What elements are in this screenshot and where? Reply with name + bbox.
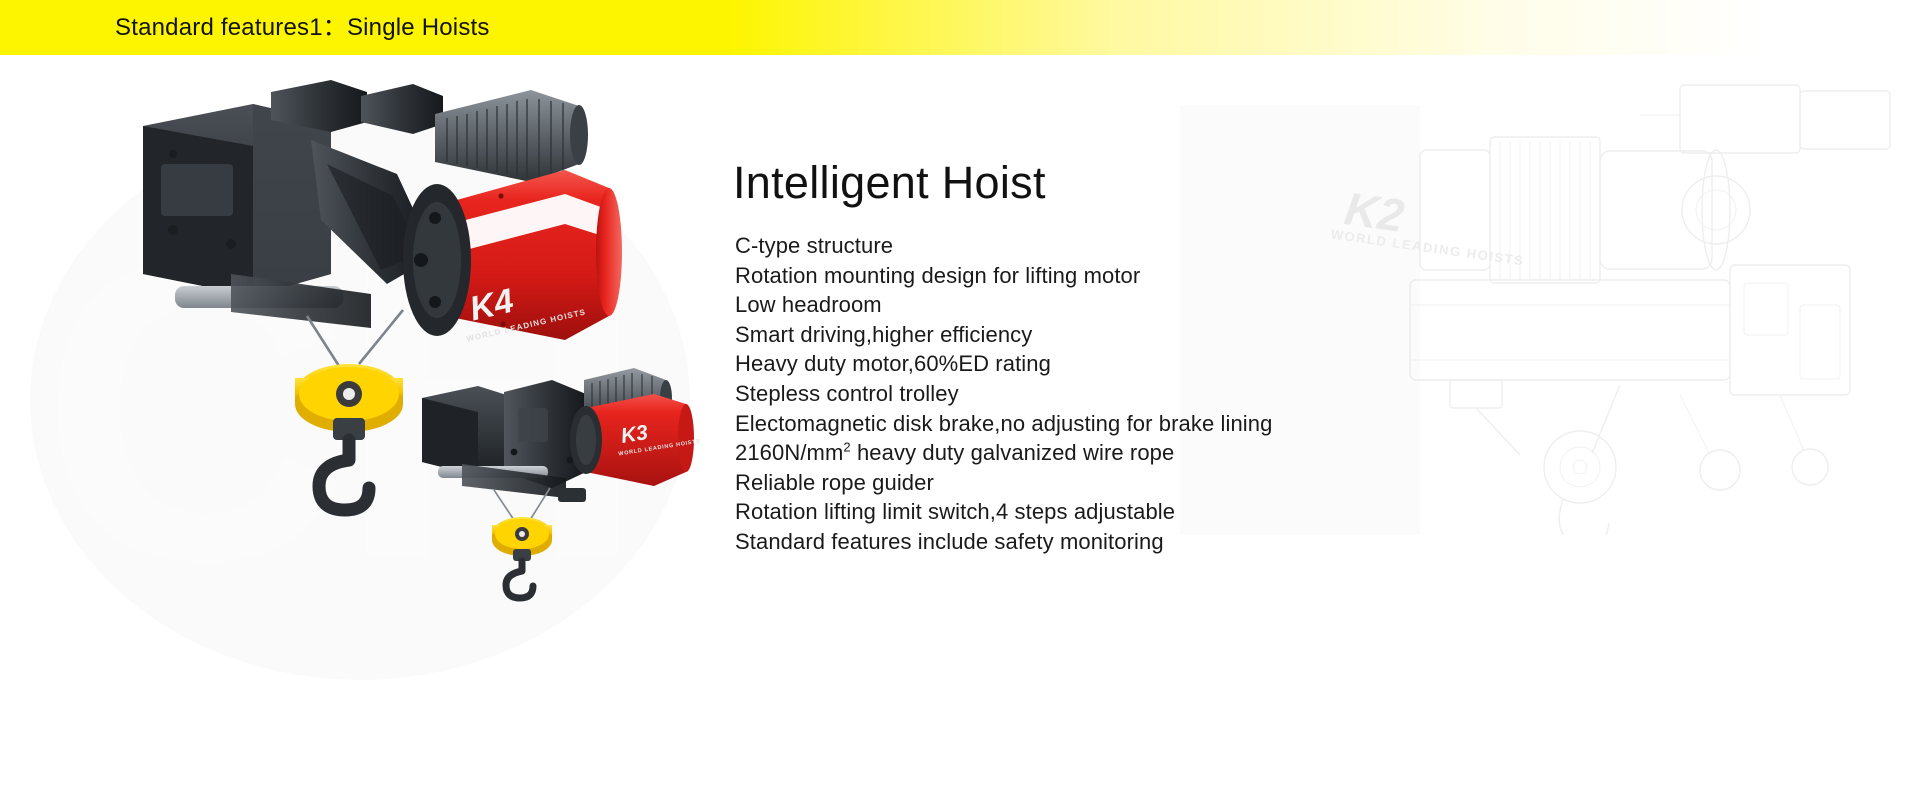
feature-item: Stepless control trolley [735, 379, 1435, 409]
feature-item: C-type structure [735, 231, 1435, 261]
header-banner: Standard features1：Single Hoists [0, 0, 1920, 55]
k2-line-drawing-watermark [1380, 55, 1920, 535]
feature-item: Smart driving,higher efficiency [735, 320, 1435, 350]
wire-rope-superscript: 2 [843, 440, 850, 455]
feature-item: Low headroom [735, 290, 1435, 320]
feature-item: Rotation lifting limit switch,4 steps ad… [735, 497, 1435, 527]
product-image-k3: K3 WORLD LEADING HOISTS [418, 368, 698, 598]
feature-item: Rotation mounting design for lifting mot… [735, 261, 1435, 291]
feature-item: Standard features include safety monitor… [735, 527, 1435, 557]
product-model-label-k3: K3 [619, 421, 649, 449]
banner-title: Standard features1：Single Hoists [115, 0, 490, 55]
feature-item: Heavy duty motor,60%ED rating [735, 349, 1435, 379]
feature-item: Reliable rope guider [735, 468, 1435, 498]
page-title: Intelligent Hoist [733, 157, 1046, 209]
wire-rope-rest: heavy duty galvanized wire rope [851, 440, 1175, 465]
feature-list: C-type structure Rotation mounting desig… [735, 231, 1435, 557]
feature-item-wire-rope: 2160N/mm2 heavy duty galvanized wire rop… [735, 438, 1435, 468]
feature-item: Electomagnetic disk brake,no adjusting f… [735, 409, 1435, 439]
wire-rope-value: 2160N/mm [735, 440, 843, 465]
